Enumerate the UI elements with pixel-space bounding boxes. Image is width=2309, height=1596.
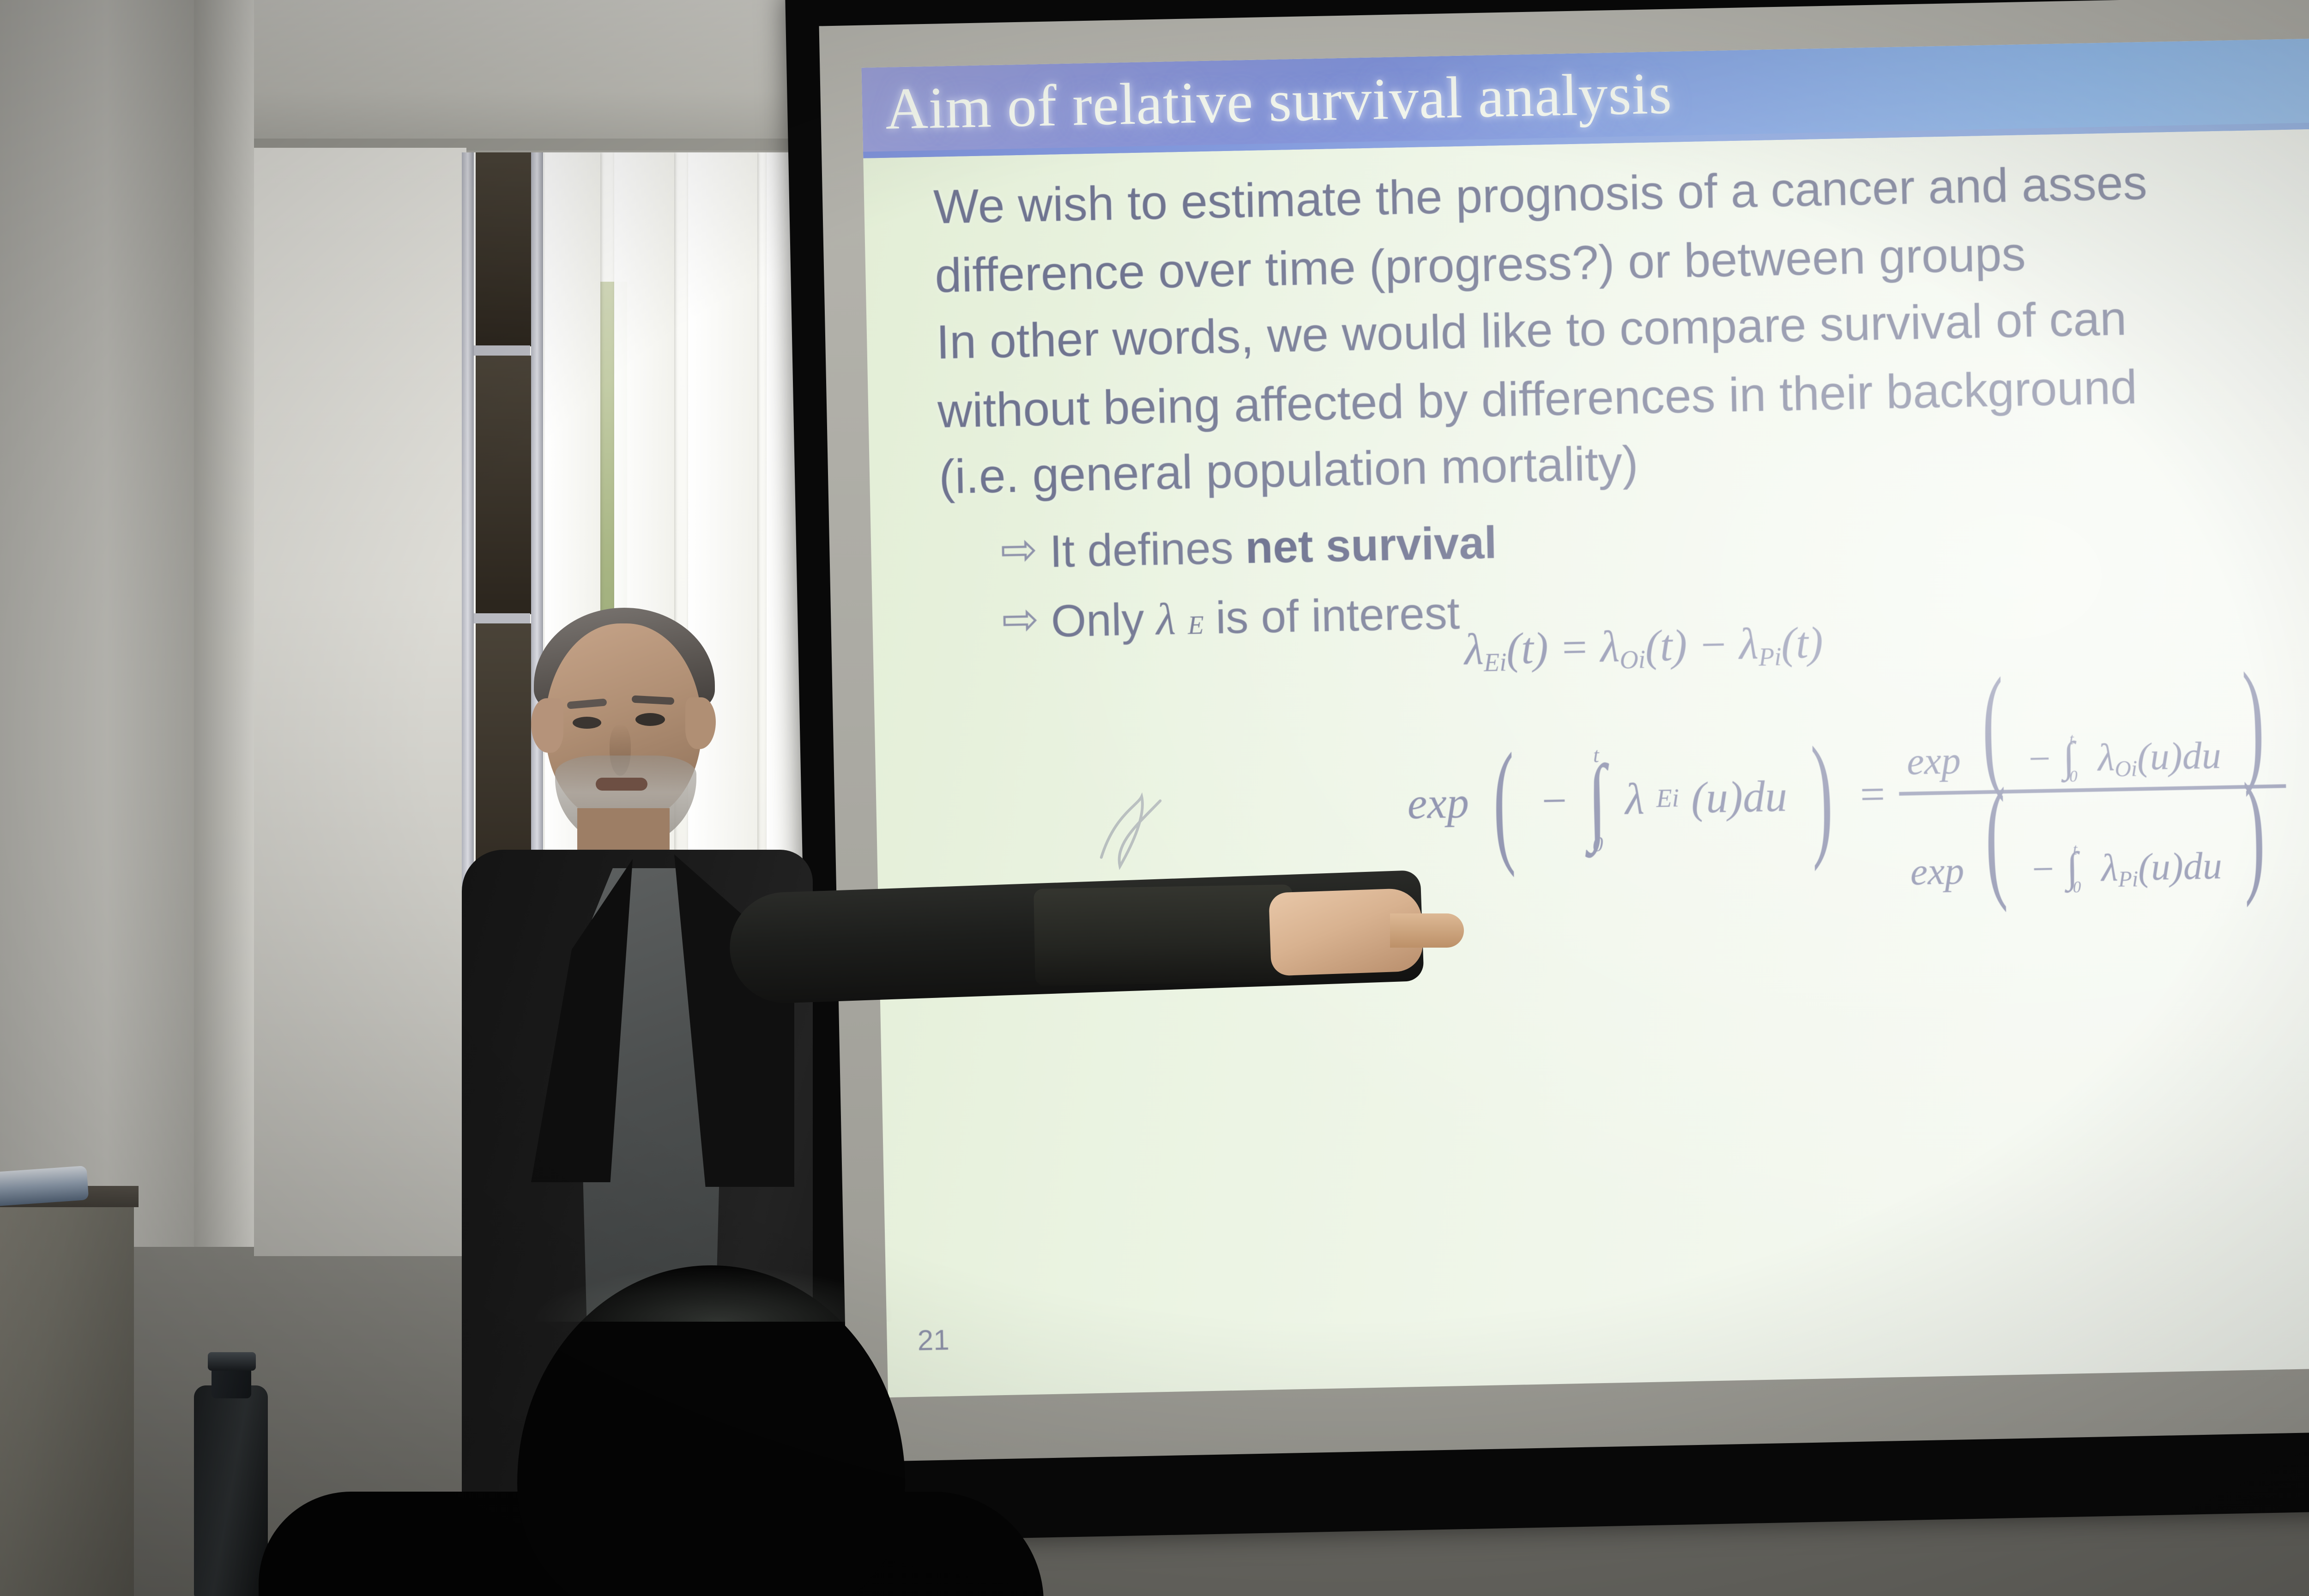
close-paren-glyph: ) [2242, 683, 2264, 759]
eq2-lhs-sub: Ei [1656, 783, 1680, 813]
slide-title-bar: Aim of relative survival analysis [861, 36, 2309, 158]
presenter-ear-right [685, 697, 716, 749]
eq1-minus: − [1698, 619, 1729, 669]
den-minus: − [2029, 847, 2056, 891]
eq1-term2-lambda: λ [1739, 619, 1759, 669]
eq1-lhs-sub: Ei [1483, 648, 1507, 677]
integral-sign: t ∫ 0 [1583, 744, 1611, 855]
slide-sub-bullet-net-survival: ⇨ It defines net survival [1000, 494, 2309, 579]
sub-bullet-emphasis: net survival [1245, 516, 1497, 574]
water-bottle-cap [208, 1352, 256, 1371]
integral-lower-limit: 0 [2069, 767, 2078, 785]
fraction: exp ( − ∫t0 λOi(u)du ) exp ( [1897, 677, 2288, 902]
num-sub: Oi [2115, 756, 2138, 781]
eq2-lhs-du: (u)du [1691, 770, 1788, 823]
slide-title: Aim of relative survival analysis [885, 64, 1673, 139]
projection-screen-fabric: Aim of relative survival analysis We wis… [819, 0, 2309, 1462]
presenter-mouth [596, 778, 647, 791]
eq1-equals: = [1559, 622, 1590, 672]
den-du: (u)du [2138, 844, 2223, 889]
audience-head-rim-light [531, 1266, 891, 1322]
pillar-shadow [194, 0, 254, 1247]
eq1-term2-arg: (t) [1781, 617, 1824, 668]
eq2-equals: = [1857, 768, 1888, 820]
eq1-term1-lambda: λ [1600, 622, 1620, 671]
integral-sign-small: ∫t0 [2062, 731, 2088, 784]
eq1-term2-sub: Pi [1758, 643, 1782, 672]
sub-bullet-prefix: Only [1051, 593, 1145, 647]
open-paren-glyph: ( [1982, 688, 2004, 764]
integral-upper-limit: t [2073, 840, 2077, 858]
eq2-lhs-exp: exp [1407, 777, 1469, 829]
integral-sign-small: ∫t0 [2066, 842, 2091, 895]
right-arrow-icon: ⇨ [1000, 527, 1038, 573]
water-bottle [194, 1385, 268, 1596]
lambda-symbol: λ [1155, 593, 1176, 646]
presenter-pointing-finger [1390, 913, 1464, 948]
lectern [0, 1191, 134, 1596]
num-lambda: λ [2097, 736, 2115, 779]
den-exp: exp [1910, 849, 1964, 893]
integral-glyph: ∫ [1587, 766, 1607, 834]
eq1-lhs-arg: (t) [1506, 623, 1549, 673]
equation-net-survival-ratio: exp ( − t ∫ 0 λEi(u)du ) = [1405, 677, 2288, 913]
num-exp: exp [1906, 739, 1961, 783]
fraction-denominator: exp ( − ∫t0 λPi(u)du ) [1900, 788, 2287, 902]
equation-block: λEi(t) = λOi(t) − λPi(t) exp ( − t ∫ 0 [1404, 607, 2288, 912]
fraction-numerator: exp ( − ∫t0 λOi(u)du ) [1897, 677, 2286, 792]
den-sub: Pi [2118, 866, 2138, 892]
eq1-lhs-lambda: λ [1464, 624, 1484, 674]
lecture-photo-scene: Aim of relative survival analysis We wis… [0, 0, 2309, 1596]
presenter-forearm [1034, 884, 1294, 986]
wall-pillar [0, 0, 194, 1247]
den-lambda: λ [2101, 846, 2118, 889]
sub-bullet-text: It defines [1049, 522, 1234, 578]
eq1-term1-arg: (t) [1644, 620, 1687, 671]
num-du: (u)du [2137, 734, 2222, 779]
eq2-lhs-lambda: λ [1625, 773, 1645, 825]
open-paren-glyph: ( [1493, 763, 1515, 840]
slide-body: We wish to estimate the prognosis of a c… [933, 142, 2309, 650]
presenter-eye-left [573, 717, 601, 729]
close-paren-glyph: ) [2243, 793, 2266, 870]
close-paren-glyph: ) [1811, 757, 1833, 834]
presentation-slide: Aim of relative survival analysis We wis… [861, 36, 2309, 1397]
presenter-eye-right [635, 713, 665, 726]
handwritten-scribble-icon [1086, 786, 1222, 885]
integral-lower-limit: 0 [2073, 878, 2081, 896]
presenter-ear-left [531, 698, 563, 753]
eq2-lhs-minus: − [1539, 775, 1570, 827]
eq1-term1-sub: Oi [1620, 645, 1646, 674]
integral-upper-limit: t [2069, 730, 2074, 748]
open-paren-glyph: ( [1985, 798, 2007, 875]
num-minus: − [2026, 737, 2053, 780]
lambda-subscript: E [1188, 610, 1204, 641]
